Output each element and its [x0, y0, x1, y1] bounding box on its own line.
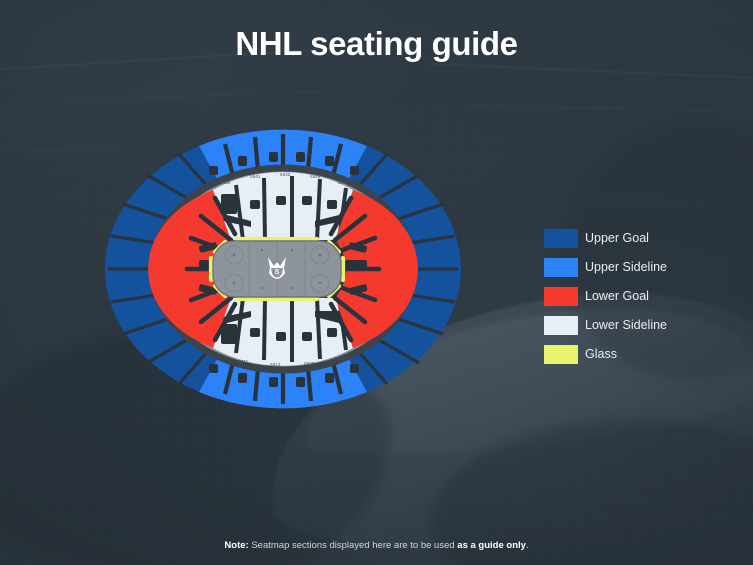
legend-label-glass: Glass — [585, 345, 617, 364]
svg-text:S647: S647 — [338, 180, 349, 185]
footer-note: Note: Seatmap sections displayed here ar… — [0, 539, 753, 552]
legend-swatch-lower-goal — [544, 287, 578, 306]
svg-text:S641: S641 — [250, 174, 261, 179]
page-title: NHL seating guide — [0, 24, 753, 64]
legend-swatch-upper-sideline — [544, 258, 578, 277]
legend: Upper Goal Upper Sideline Lower Goal Low… — [544, 229, 667, 374]
seatmap[interactable]: S S639 S641 S643 S645 S647 S611 S613 S60… — [103, 128, 463, 410]
legend-label-lower-sideline: Lower Sideline — [585, 316, 667, 335]
footer-note-prefix: Note: — [224, 540, 248, 551]
footer-note-suffix: . — [526, 540, 529, 551]
legend-item-lower-goal[interactable]: Lower Goal — [544, 287, 667, 306]
svg-text:S611: S611 — [238, 359, 249, 364]
legend-label-upper-goal: Upper Goal — [585, 229, 649, 248]
legend-item-upper-sideline[interactable]: Upper Sideline — [544, 258, 667, 277]
svg-text:S606: S606 — [334, 356, 345, 361]
footer-note-text: Seatmap sections displayed here are to b… — [249, 540, 458, 551]
svg-text:S639: S639 — [220, 180, 231, 185]
svg-text:S: S — [275, 269, 280, 276]
legend-item-upper-goal[interactable]: Upper Goal — [544, 229, 667, 248]
legend-item-glass[interactable]: Glass — [544, 345, 667, 364]
svg-text:S645: S645 — [310, 174, 321, 179]
nhl-seating-guide-page: NHL seating guide — [0, 0, 753, 565]
legend-swatch-upper-goal — [544, 229, 578, 248]
legend-swatch-glass — [544, 345, 578, 364]
seatmap-svg: S S639 S641 S643 S645 S647 S611 S613 S60… — [103, 128, 463, 410]
legend-label-upper-sideline: Upper Sideline — [585, 258, 667, 277]
svg-text:S613: S613 — [270, 362, 281, 367]
footer-note-emphasis: as a guide only — [457, 540, 526, 551]
svg-text:S608: S608 — [304, 361, 315, 366]
legend-swatch-lower-sideline — [544, 316, 578, 335]
legend-label-lower-goal: Lower Goal — [585, 287, 649, 306]
legend-item-lower-sideline[interactable]: Lower Sideline — [544, 316, 667, 335]
ice-rink[interactable]: S — [213, 241, 341, 297]
svg-text:S643: S643 — [280, 172, 291, 177]
